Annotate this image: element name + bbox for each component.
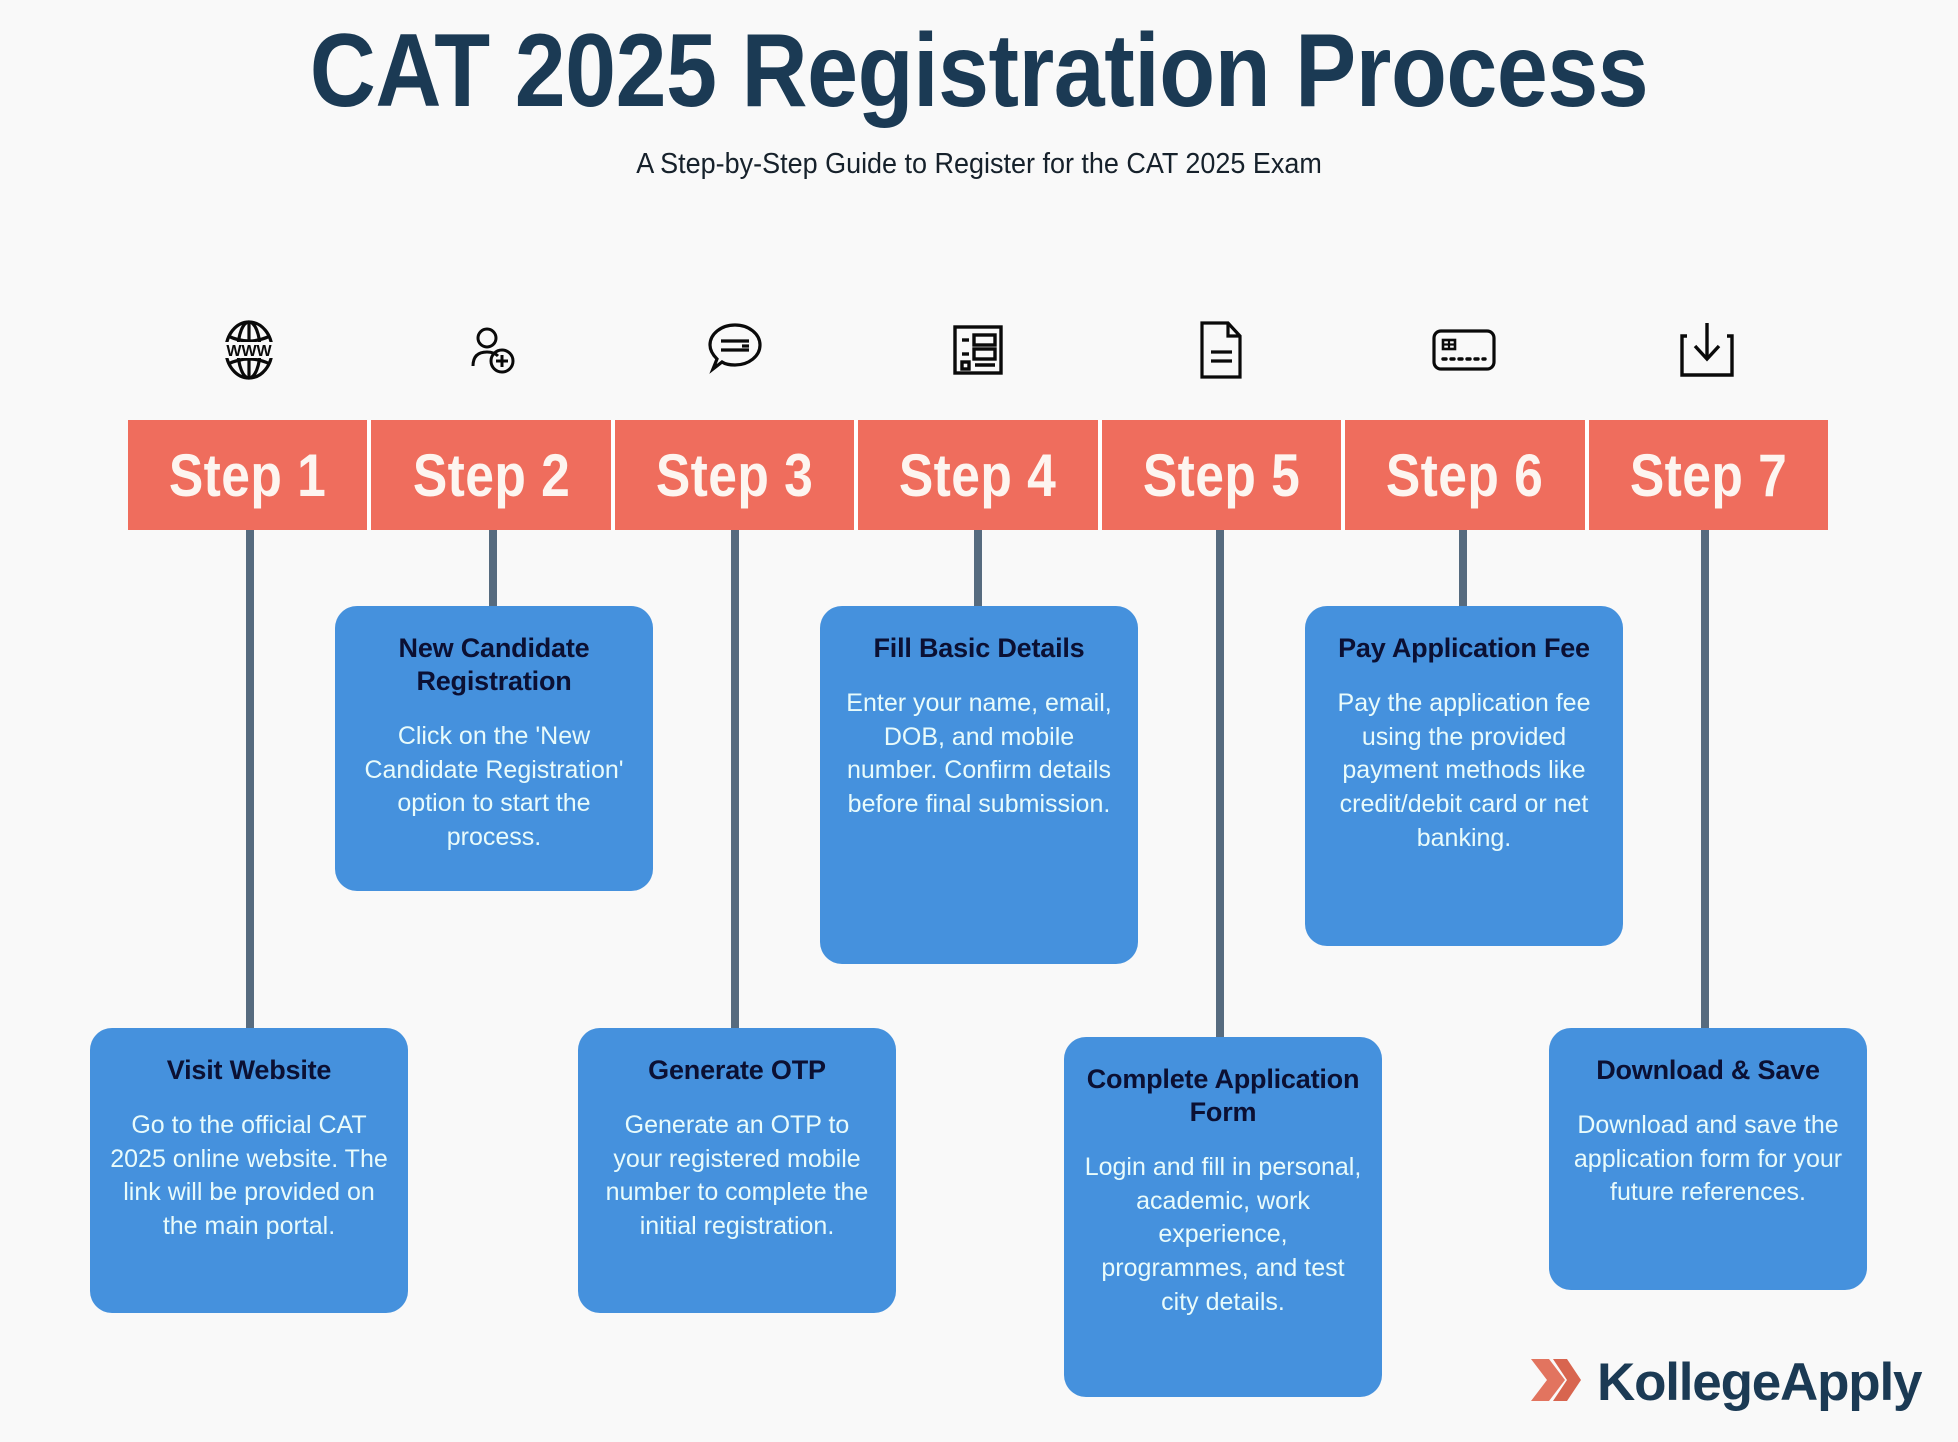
step-label-5: Step 5 <box>1143 441 1300 510</box>
step-card-title-1: Visit Website <box>110 1054 388 1087</box>
download-icon <box>1678 319 1736 381</box>
step-label-3: Step 3 <box>656 441 813 510</box>
connector-step-3 <box>731 530 739 1030</box>
step-card-6: Pay Application Fee Pay the application … <box>1305 606 1623 946</box>
step-card-3: Generate OTP Generate an OTP to your reg… <box>578 1028 896 1313</box>
step-card-title-4: Fill Basic Details <box>840 632 1118 665</box>
step-cell-5[interactable]: Step 5 <box>1102 420 1341 530</box>
connector-step-5 <box>1216 530 1224 1040</box>
step-card-1: Visit Website Go to the official CAT 202… <box>90 1028 408 1313</box>
connector-step-1 <box>246 530 254 1030</box>
step-cell-7[interactable]: Step 7 <box>1589 420 1828 530</box>
step-label-2: Step 2 <box>412 441 569 510</box>
step-bar: Step 1 Step 2 Step 3 Step 4 Step 5 Step … <box>128 420 1828 530</box>
step-card-title-3: Generate OTP <box>598 1054 876 1087</box>
icon-cell-step-7 <box>1585 310 1828 390</box>
step-card-title-2: New Candidate Registration <box>355 632 633 698</box>
step-cell-4[interactable]: Step 4 <box>858 420 1097 530</box>
connector-step-2 <box>489 530 497 610</box>
step-icon-row: WWW <box>128 310 1828 390</box>
step-card-title-7: Download & Save <box>1569 1054 1847 1087</box>
svg-text:WWW: WWW <box>227 343 273 360</box>
step-label-6: Step 6 <box>1386 441 1543 510</box>
credit-card-icon <box>1430 324 1498 376</box>
step-card-body-4: Enter your name, email, DOB, and mobile … <box>840 687 1118 822</box>
step-card-5: Complete Application Form Login and fill… <box>1064 1037 1382 1397</box>
step-card-body-3: Generate an OTP to your registered mobil… <box>598 1109 876 1244</box>
add-user-icon <box>463 321 521 379</box>
icon-cell-step-3 <box>614 310 857 390</box>
step-card-body-1: Go to the official CAT 2025 online websi… <box>110 1109 388 1244</box>
connector-step-4 <box>974 530 982 610</box>
document-icon <box>1195 319 1247 381</box>
icon-cell-step-5 <box>1099 310 1342 390</box>
icon-cell-step-6 <box>1342 310 1585 390</box>
globe-www-icon: WWW <box>218 319 280 381</box>
step-card-4: Fill Basic Details Enter your name, emai… <box>820 606 1138 964</box>
step-card-7: Download & Save Download and save the ap… <box>1549 1028 1867 1290</box>
connector-step-6 <box>1459 530 1467 610</box>
step-card-title-5: Complete Application Form <box>1084 1063 1362 1129</box>
infographic-header: CAT 2025 Registration Process A Step-by-… <box>0 0 1958 181</box>
step-cell-2[interactable]: Step 2 <box>371 420 610 530</box>
step-card-body-7: Download and save the application form f… <box>1569 1109 1847 1210</box>
double-chevron-icon <box>1527 1353 1583 1412</box>
form-fields-icon <box>949 321 1007 379</box>
step-cell-1[interactable]: Step 1 <box>128 420 367 530</box>
step-card-2: New Candidate Registration Click on the … <box>335 606 653 891</box>
connector-step-7 <box>1701 530 1709 1030</box>
step-card-body-2: Click on the 'New Candidate Registration… <box>355 720 633 855</box>
kollegeapply-logo: KollegeApply <box>1527 1352 1921 1413</box>
step-card-body-5: Login and fill in personal, academic, wo… <box>1084 1151 1362 1320</box>
step-cell-3[interactable]: Step 3 <box>615 420 854 530</box>
step-card-title-6: Pay Application Fee <box>1325 632 1603 665</box>
chat-bubble-icon <box>704 319 766 381</box>
page-subtitle: A Step-by-Step Guide to Register for the… <box>69 148 1890 181</box>
icon-cell-step-1: WWW <box>128 310 371 390</box>
step-label-7: Step 7 <box>1630 441 1787 510</box>
step-cell-6[interactable]: Step 6 <box>1345 420 1584 530</box>
step-card-body-6: Pay the application fee using the provid… <box>1325 687 1603 856</box>
icon-cell-step-4 <box>857 310 1100 390</box>
page-title: CAT 2025 Registration Process <box>117 14 1840 128</box>
icon-cell-step-2 <box>371 310 614 390</box>
step-label-4: Step 4 <box>899 441 1056 510</box>
step-label-1: Step 1 <box>169 441 326 510</box>
logo-text: KollegeApply <box>1597 1352 1921 1413</box>
